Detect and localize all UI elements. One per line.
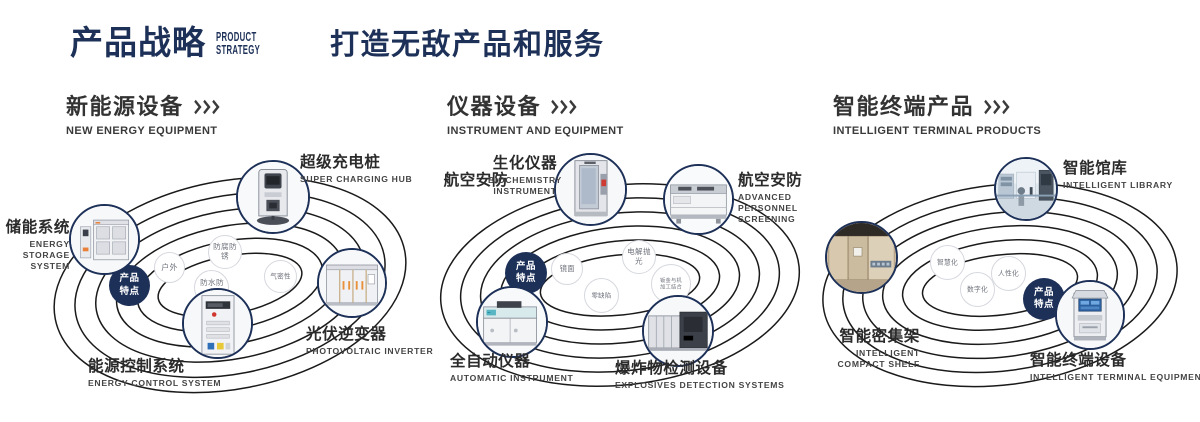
node-super-charging-hub[interactable] xyxy=(236,160,310,234)
label-en-2-3: EXPLOSIVES DETECTION SYSTEMS xyxy=(615,380,785,391)
feature-bubble-1-2: 防腐防锈 xyxy=(208,235,242,269)
core-label-line-1: 产品 xyxy=(1034,287,1054,299)
arrows-svg-1 xyxy=(194,100,228,115)
core-label-stack-1: 产品特点 xyxy=(119,273,139,298)
label-en-2-4: AUTOMATIC INSTRUMENT xyxy=(450,373,573,384)
feature-label-3-1: 智慧化 xyxy=(934,258,962,266)
feature-label-3-2: 数字化 xyxy=(964,285,992,293)
core-label-line-2: 特点 xyxy=(516,273,536,285)
screening-machine-icon xyxy=(665,166,732,233)
label-automatic-instrument: 全自动仪器 AUTOMATIC INSTRUMENT xyxy=(450,353,573,384)
section-title-en-1: NEW ENERGY EQUIPMENT xyxy=(66,125,228,137)
label-intelligent-library: 智能馆库 INTELLIGENT LIBRARY xyxy=(1063,160,1173,191)
feature-bubble-2-1: 镜面 xyxy=(551,253,583,285)
label-en-3-1: INTELLIGENT LIBRARY xyxy=(1063,180,1173,191)
section-title-cn-2: 仪器设备 xyxy=(447,96,541,118)
node-explosives-detection-systems[interactable] xyxy=(642,295,714,367)
battery-cabinet-icon xyxy=(71,206,138,273)
charging-pile-icon xyxy=(238,162,308,232)
label-cn-1-4: 能源控制系统 xyxy=(88,358,221,376)
feature-label-2-3: 钣金与机加工结合 xyxy=(658,277,683,290)
node-photovoltaic-inverter[interactable] xyxy=(317,248,387,318)
chevron-right-triple-icon-2 xyxy=(551,100,585,115)
label-en-2-1: BIOCHEMISTRY INSTRUMENT xyxy=(475,175,575,197)
core-label-line-2: 特点 xyxy=(119,286,139,298)
label-en-1-2: SUPER CHARGING HUB xyxy=(300,174,412,185)
feature-bubble-3-2: 数字化 xyxy=(960,272,995,307)
title-english-line1: PRODUCT xyxy=(216,31,260,44)
node-intelligent-compact-shelf[interactable] xyxy=(825,221,898,294)
node-advanced-personnel-screening[interactable] xyxy=(663,164,734,235)
compact-shelf-icon xyxy=(827,223,896,292)
control-cabinet-icon xyxy=(184,290,251,357)
auto-analyzer-icon xyxy=(478,288,546,356)
label-cn-2-4: 全自动仪器 xyxy=(450,353,573,371)
feature-label-1-2: 防腐防锈 xyxy=(213,243,238,262)
infographic-page: 产品战略 PRODUCT STRATEGY 打造无敌产品和服务 新能源设备 NE… xyxy=(0,0,1200,422)
feature-label-3-3: 人性化 xyxy=(995,269,1023,277)
node-intelligent-terminal-equipment[interactable] xyxy=(1055,280,1125,350)
library-room-icon xyxy=(996,159,1056,219)
label-cn-3-1: 智能馆库 xyxy=(1063,160,1173,178)
label-cn-2-3: 爆炸物检测设备 xyxy=(615,360,785,378)
title-english-line2: STRATEGY xyxy=(216,44,260,57)
feature-label-2-1: 镜面 xyxy=(559,264,574,273)
label-cn-2-1: 生化仪器 xyxy=(475,155,575,173)
label-intelligent-terminal-equipment: 智能终端设备 INTELLIGENT TERMINAL EQUIPMENT xyxy=(1030,352,1200,383)
label-en-1-3: PHOTOVOLTAIC INVERTER xyxy=(306,346,433,357)
title-english: PRODUCT STRATEGY xyxy=(216,31,260,59)
feature-label-1-4: 气密性 xyxy=(268,272,293,280)
label-en-3-2: INTELLIGENT COMPACT SHELF xyxy=(810,348,920,370)
cluster-instrument: 镜面 电解抛光 钣金与机加工结合 零缺陷 产品特点 xyxy=(420,160,820,400)
node-intelligent-library[interactable] xyxy=(994,157,1058,221)
feature-bubble-1-1: 户外 xyxy=(154,252,185,283)
inverter-cabinet-icon xyxy=(319,250,385,316)
core-label-stack-2: 产品特点 xyxy=(516,261,536,286)
label-energy-storage-system: 储能系统 ENERGY STORAGE SYSTEM xyxy=(0,219,70,272)
section-title-en-3: INTELLIGENT TERMINAL PRODUCTS xyxy=(833,125,1041,137)
feature-bubble-3-3: 人性化 xyxy=(991,256,1026,291)
feature-bubble-2-2: 电解抛光 xyxy=(622,240,656,274)
label-super-charging-hub: 超级充电桩 SUPER CHARGING HUB xyxy=(300,154,412,185)
cluster-intelligent: 智慧化 数字化 人性化 产品特点 xyxy=(805,160,1200,400)
section-title-cn-1: 新能源设备 xyxy=(66,96,184,118)
label-energy-control-system: 能源控制系统 ENERGY CONTROL SYSTEM xyxy=(88,358,221,389)
label-en-1-1: ENERGY STORAGE SYSTEM xyxy=(0,239,70,273)
feature-bubble-1-4: 气密性 xyxy=(264,260,297,293)
label-cn-1-1: 储能系统 xyxy=(0,219,70,237)
title-chinese: 产品战略 xyxy=(70,26,206,59)
page-title: 产品战略 PRODUCT STRATEGY xyxy=(70,26,287,59)
section-heading-intelligent: 智能终端产品 INTELLIGENT TERMINAL PRODUCTS xyxy=(833,96,1041,137)
arrows-svg-3 xyxy=(984,100,1018,115)
node-automatic-instrument[interactable] xyxy=(476,286,548,358)
detection-unit-icon xyxy=(644,297,712,365)
feature-label-1-1: 户外 xyxy=(161,263,178,273)
feature-bubble-3-1: 智慧化 xyxy=(930,245,965,280)
cluster-new-energy: 防腐防锈 户外 气密性 防水防尘 产品特点 xyxy=(30,160,430,400)
feature-label-2-4: 零缺陷 xyxy=(588,292,614,300)
chevron-right-triple-icon-3 xyxy=(984,100,1018,115)
label-intelligent-compact-shelf: 智能密集架 INTELLIGENT COMPACT SHELF xyxy=(810,328,920,370)
label-cn-3-2: 智能密集架 xyxy=(810,328,920,346)
core-label-line-1: 产品 xyxy=(119,273,139,285)
label-en-1-4: ENERGY CONTROL SYSTEM xyxy=(88,378,221,389)
label-explosives-detection-systems: 爆炸物检测设备 EXPLOSIVES DETECTION SYSTEMS xyxy=(615,360,785,391)
section-heading-instrument: 仪器设备 INSTRUMENT AND EQUIPMENT xyxy=(447,96,624,137)
section-title-en-2: INSTRUMENT AND EQUIPMENT xyxy=(447,125,624,137)
label-biochemistry-instrument: 生化仪器 BIOCHEMISTRY INSTRUMENT xyxy=(475,155,575,197)
kiosk-terminal-icon xyxy=(1057,282,1123,348)
feature-label-2-2: 电解抛光 xyxy=(627,248,652,267)
label-cn-3-3: 智能终端设备 xyxy=(1030,352,1200,370)
core-label-line-2: 特点 xyxy=(1034,299,1054,311)
core-label-stack-3: 产品特点 xyxy=(1034,287,1054,312)
label-cn-1-2: 超级充电桩 xyxy=(300,154,412,172)
arrows-svg-2 xyxy=(551,100,585,115)
feature-bubble-2-4: 零缺陷 xyxy=(584,278,619,313)
core-label-line-1: 产品 xyxy=(516,261,536,273)
node-energy-storage-system[interactable] xyxy=(69,204,140,275)
page-subtitle: 打造无敌产品和服务 xyxy=(330,31,605,60)
section-heading-new-energy: 新能源设备 NEW ENERGY EQUIPMENT xyxy=(66,96,228,137)
label-photovoltaic-inverter: 光伏逆变器 PHOTOVOLTAIC INVERTER xyxy=(306,326,433,357)
section-title-cn-3: 智能终端产品 xyxy=(833,96,974,118)
node-energy-control-system[interactable] xyxy=(182,288,253,359)
chevron-right-triple-icon-1 xyxy=(194,100,228,115)
label-cn-1-3: 光伏逆变器 xyxy=(306,326,433,344)
label-en-3-3: INTELLIGENT TERMINAL EQUIPMENT xyxy=(1030,372,1200,383)
